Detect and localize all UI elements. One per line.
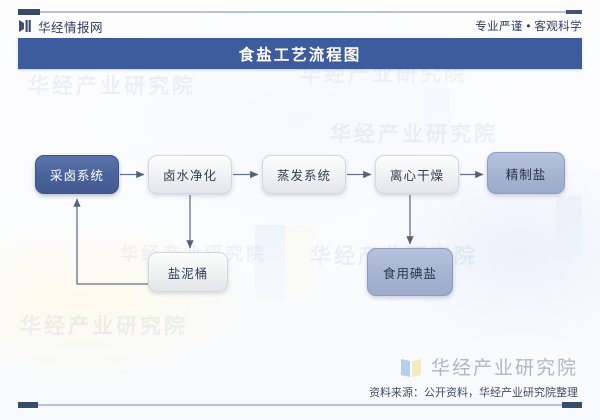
flow-node-brine-purification[interactable]: 卤水净化 [148,155,232,194]
header-slogan: 专业严谨 • 客观科学 [475,18,582,34]
flow-node-centrifugal-drying[interactable]: 离心干燥 [375,155,459,194]
corner-watermark-logo: 华经产业研究院 [399,353,578,380]
brand: 华经情报网 [18,17,103,36]
bottom-divider [18,404,582,406]
page-title: 食盐工艺流程图 [239,43,362,65]
top-divider [18,11,582,13]
chart-title-bar: 食盐工艺流程图 [18,38,582,69]
flow-node-evaporation-system[interactable]: 蒸发系统 [262,155,346,194]
flow-node-salt-mud-barrel[interactable]: 盐泥桶 [148,252,228,292]
header-bar: 华经情报网 专业严谨 • 客观科学 [18,14,582,38]
play-pause-bars-icon [18,19,32,33]
source-note: 资料来源：公开资料，华经产业研究院整理 [369,384,578,400]
flow-node-iodized-table-salt[interactable]: 食用碘盐 [367,248,453,296]
open-book-icon [399,355,423,379]
brand-name: 华经情报网 [38,17,103,36]
flow-node-cailu-system[interactable]: 采卤系统 [35,155,119,194]
flow-node-refined-salt[interactable]: 精制盐 [487,152,565,194]
corner-watermark-text: 华经产业研究院 [431,353,578,380]
